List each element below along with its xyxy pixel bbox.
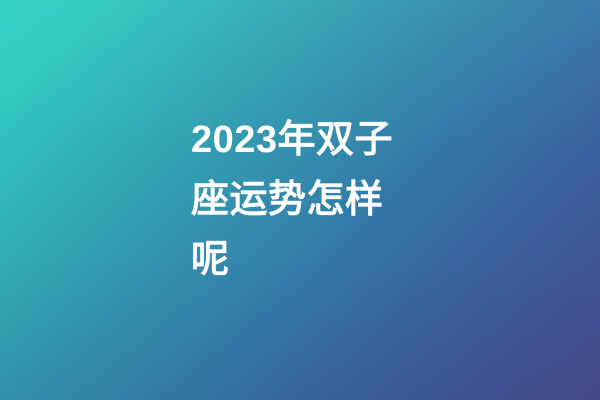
page-title: 2023年双子座运势怎样呢 (0, 110, 600, 290)
title-card: 2023年双子座运势怎样呢 (0, 0, 600, 400)
